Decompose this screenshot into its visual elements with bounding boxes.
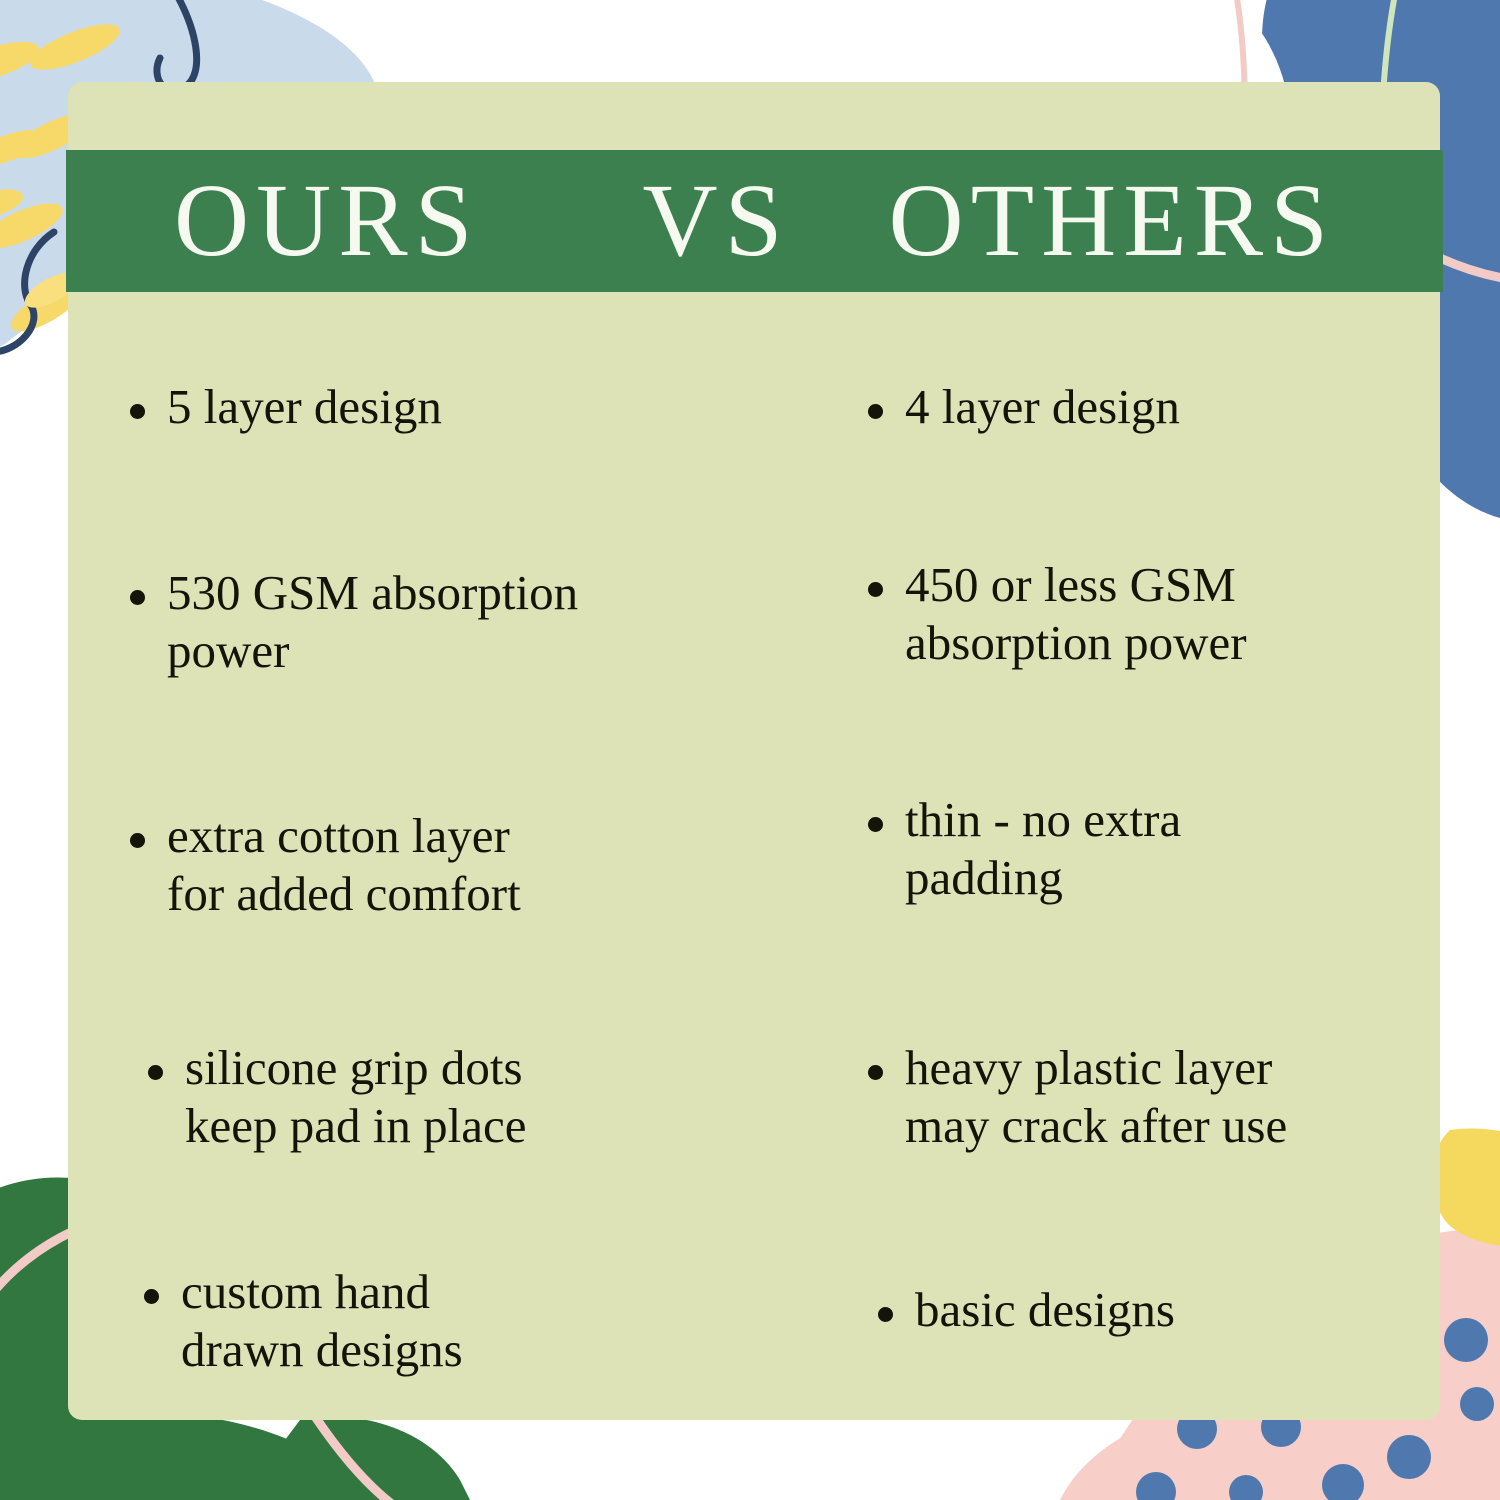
list-item-label: 4 layer design bbox=[905, 378, 1180, 436]
list-item-label: basic designs bbox=[915, 1281, 1175, 1339]
list-item: 450 or less GSM absorption power bbox=[868, 556, 1440, 672]
list-item: 530 GSM absorption power bbox=[130, 564, 768, 680]
list-item-label: heavy plastic layer may crack after use bbox=[905, 1039, 1287, 1155]
list-item-label: silicone grip dots keep pad in place bbox=[185, 1039, 526, 1155]
title-band: OURS VS OTHERS bbox=[66, 150, 1443, 292]
infographic-canvas: OURS VS OTHERS 5 layer design 530 GSM ab… bbox=[0, 0, 1500, 1500]
polka-dot-4-icon bbox=[1387, 1435, 1431, 1479]
yellow-leaf-dash-4-icon bbox=[0, 123, 48, 173]
bullet-dot-icon bbox=[144, 1289, 159, 1304]
list-item: 5 layer design bbox=[130, 378, 768, 436]
comparison-columns: 5 layer design 530 GSM absorption power … bbox=[68, 314, 1440, 1414]
navy-squiggle-bottom-left-icon bbox=[0, 232, 54, 352]
bullet-dot-icon bbox=[868, 817, 883, 832]
polka-dot-6-icon bbox=[1136, 1472, 1176, 1500]
list-item: extra cotton layer for added comfort bbox=[130, 807, 768, 923]
dark-green-blob-bottom-left-3-icon bbox=[240, 1417, 470, 1500]
polka-dot-1-icon bbox=[1444, 1318, 1488, 1362]
bullet-dot-icon bbox=[868, 1065, 883, 1080]
pink-curve-top-right-horizontal-icon bbox=[1440, 258, 1500, 282]
list-item: thin - no extra padding bbox=[868, 791, 1440, 907]
column-ours: 5 layer design 530 GSM absorption power … bbox=[68, 314, 768, 1414]
pink-curve-bottom-left-2-icon bbox=[316, 1418, 400, 1500]
list-item: silicone grip dots keep pad in place bbox=[148, 1039, 768, 1155]
bullet-dot-icon bbox=[130, 833, 145, 848]
yellow-leaf-dash-1-icon bbox=[25, 15, 125, 79]
bullet-dot-icon bbox=[148, 1065, 163, 1080]
yellow-blob-bottom-right-icon bbox=[1432, 1128, 1500, 1247]
comparison-card: OURS VS OTHERS 5 layer design 530 GSM ab… bbox=[68, 82, 1440, 1420]
polka-dot-5-icon bbox=[1322, 1464, 1364, 1500]
yellow-leaf-dash-6-icon bbox=[0, 183, 26, 227]
dark-green-blob-bottom-left-2-icon bbox=[0, 1412, 380, 1500]
yellow-leaf-dash-8-icon bbox=[28, 295, 68, 329]
list-item: 4 layer design bbox=[868, 378, 1440, 436]
bullet-dot-icon bbox=[878, 1307, 893, 1322]
navy-squiggle-top-left-icon bbox=[157, 0, 197, 90]
bullet-dot-icon bbox=[130, 404, 145, 419]
yellow-leaf-dash-2-icon bbox=[0, 34, 43, 91]
page-title: OURS VS OTHERS bbox=[174, 169, 1335, 273]
polka-dot-8-icon bbox=[1229, 1475, 1263, 1500]
list-item: basic designs bbox=[878, 1281, 1440, 1339]
yellow-leaf-dash-5-icon bbox=[0, 194, 68, 257]
list-item-label: extra cotton layer for added comfort bbox=[167, 807, 521, 923]
list-item-label: custom hand drawn designs bbox=[181, 1263, 463, 1379]
list-item: heavy plastic layer may crack after use bbox=[868, 1039, 1440, 1155]
column-others: 4 layer design 450 or less GSM absorptio… bbox=[768, 314, 1440, 1414]
list-item-label: thin - no extra padding bbox=[905, 791, 1181, 907]
bullet-dot-icon bbox=[868, 582, 883, 597]
list-item-label: 450 or less GSM absorption power bbox=[905, 556, 1247, 672]
list-item-label: 530 GSM absorption power bbox=[167, 564, 578, 680]
polka-dot-7-icon bbox=[1460, 1387, 1494, 1421]
list-item-label: 5 layer design bbox=[167, 378, 442, 436]
list-item: custom hand drawn designs bbox=[144, 1263, 768, 1379]
bullet-dot-icon bbox=[868, 404, 883, 419]
bullet-dot-icon bbox=[130, 590, 145, 605]
